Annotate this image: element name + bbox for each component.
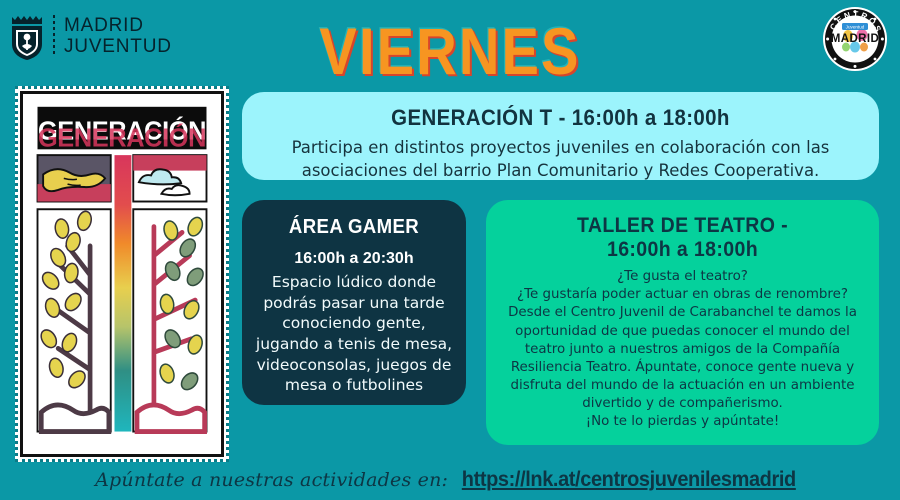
card-taller-de-teatro-body-line-4: ¡No te lo pierdas y apúntate! bbox=[500, 413, 865, 431]
footer-lead-text: Apúntate a nuestras actividades en: bbox=[95, 469, 448, 491]
svg-text:MADRID: MADRID bbox=[831, 33, 879, 45]
card-taller-de-teatro-body-line-2: ¿Te gustaría poder actuar en obras de re… bbox=[500, 286, 865, 304]
footer: Apúntate a nuestras actividades en: http… bbox=[0, 468, 900, 492]
card-taller-de-teatro-title-line-1: TALLER DE TEATRO - bbox=[513, 214, 852, 238]
card-area-gamer-body: Espacio lúdico donde podrás pasar una ta… bbox=[254, 272, 454, 396]
card-taller-de-teatro[interactable]: TALLER DE TEATRO - 16:00h a 18:00h ¿Te g… bbox=[486, 200, 879, 445]
day-title: VIERNES bbox=[0, 14, 900, 90]
card-generacion-t-body-line-1: Participa en distintos proyectos juvenil… bbox=[258, 137, 863, 160]
card-area-gamer-time: 16:00h a 20:30h bbox=[254, 248, 454, 269]
card-taller-de-teatro-body-line-3: Desde el Centro Juvenil de Carabanchel t… bbox=[500, 304, 865, 413]
poster-canvas: MADRID JUVENTUD VIERNES CENTROS JUVENILE… bbox=[0, 0, 900, 500]
card-generacion-t[interactable]: GENERACIÓN T - 16:00h a 18:00h Participa… bbox=[242, 92, 879, 180]
card-taller-de-teatro-title: TALLER DE TEATRO - 16:00h a 18:00h bbox=[513, 214, 852, 262]
signup-url-link[interactable]: https://lnk.at/centrosjuvenilesmadrid bbox=[462, 468, 796, 492]
svg-text:Juventud: Juventud bbox=[846, 25, 865, 30]
card-generacion-t-body-line-2: asociaciones del barrio Plan Comunitario… bbox=[258, 160, 863, 183]
card-area-gamer-title: ÁREA GAMER bbox=[261, 216, 447, 239]
card-taller-de-teatro-title-line-2: 16:00h a 18:00h bbox=[513, 238, 852, 262]
generacion-t-poster: GENERACIÓN GENERACIÓN bbox=[15, 86, 229, 462]
card-taller-de-teatro-body-line-1: ¿Te gusta el teatro? bbox=[500, 268, 865, 286]
card-generacion-t-title: GENERACIÓN T - 16:00h a 18:00h bbox=[279, 105, 842, 131]
card-area-gamer[interactable]: ÁREA GAMER 16:00h a 20:30h Espacio lúdic… bbox=[242, 200, 466, 405]
